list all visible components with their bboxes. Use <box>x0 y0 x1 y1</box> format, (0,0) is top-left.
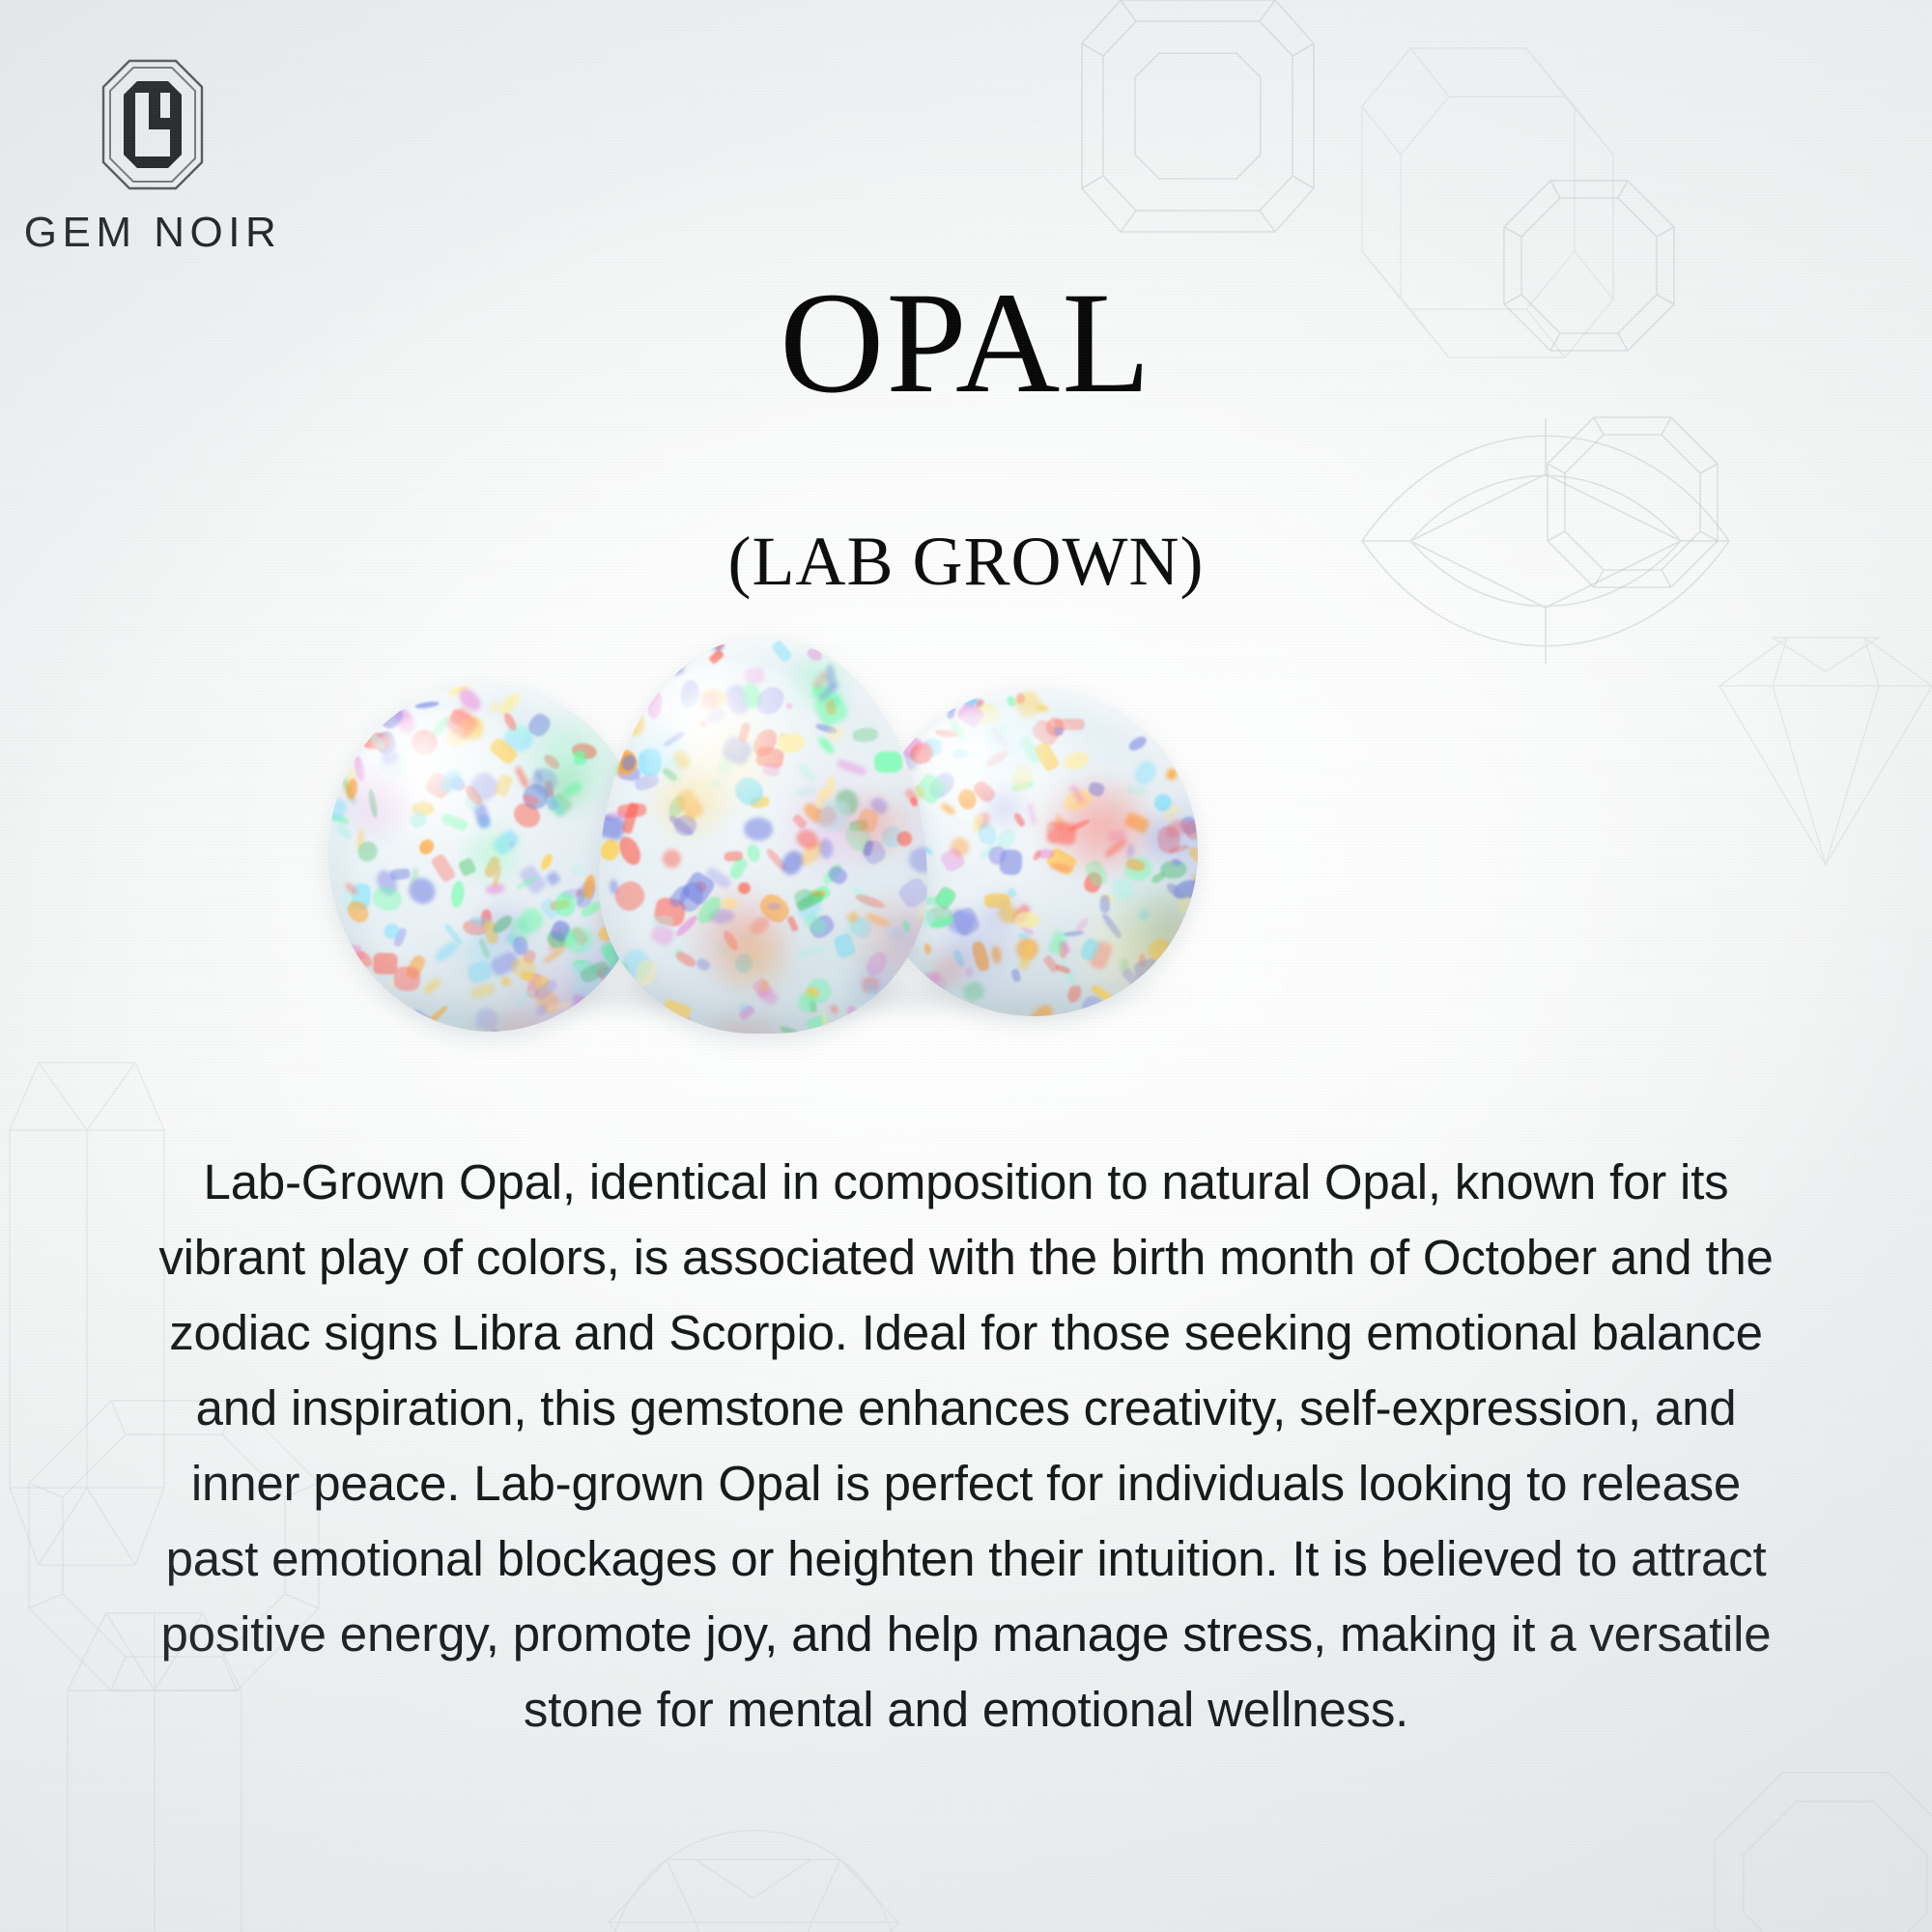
product-image <box>319 628 1227 1034</box>
brand-wordmark: GEM NOIR <box>24 209 281 257</box>
poster-canvas: GEM NOIR OPAL (LAB GROWN) Lab-Grown Opal… <box>0 0 1932 1932</box>
round-brilliant-gem-watermark-icon <box>580 1806 927 1932</box>
page-title: OPAL <box>0 270 1932 415</box>
page-subtitle: (LAB GROWN) <box>0 526 1932 596</box>
pear-opal-center <box>599 638 927 1034</box>
octagonal-gem-monogram-icon <box>99 56 207 193</box>
brand-logo[interactable]: GEM NOIR <box>27 56 278 257</box>
octagon-cut-gem-watermark-icon <box>1700 1758 1932 1932</box>
product-description: Lab-Grown Opal, identical in composition… <box>145 1145 1787 1747</box>
emerald-cut-gem-watermark-icon <box>1053 0 1343 261</box>
round-brilliant-gem-watermark-icon <box>1681 618 1932 889</box>
